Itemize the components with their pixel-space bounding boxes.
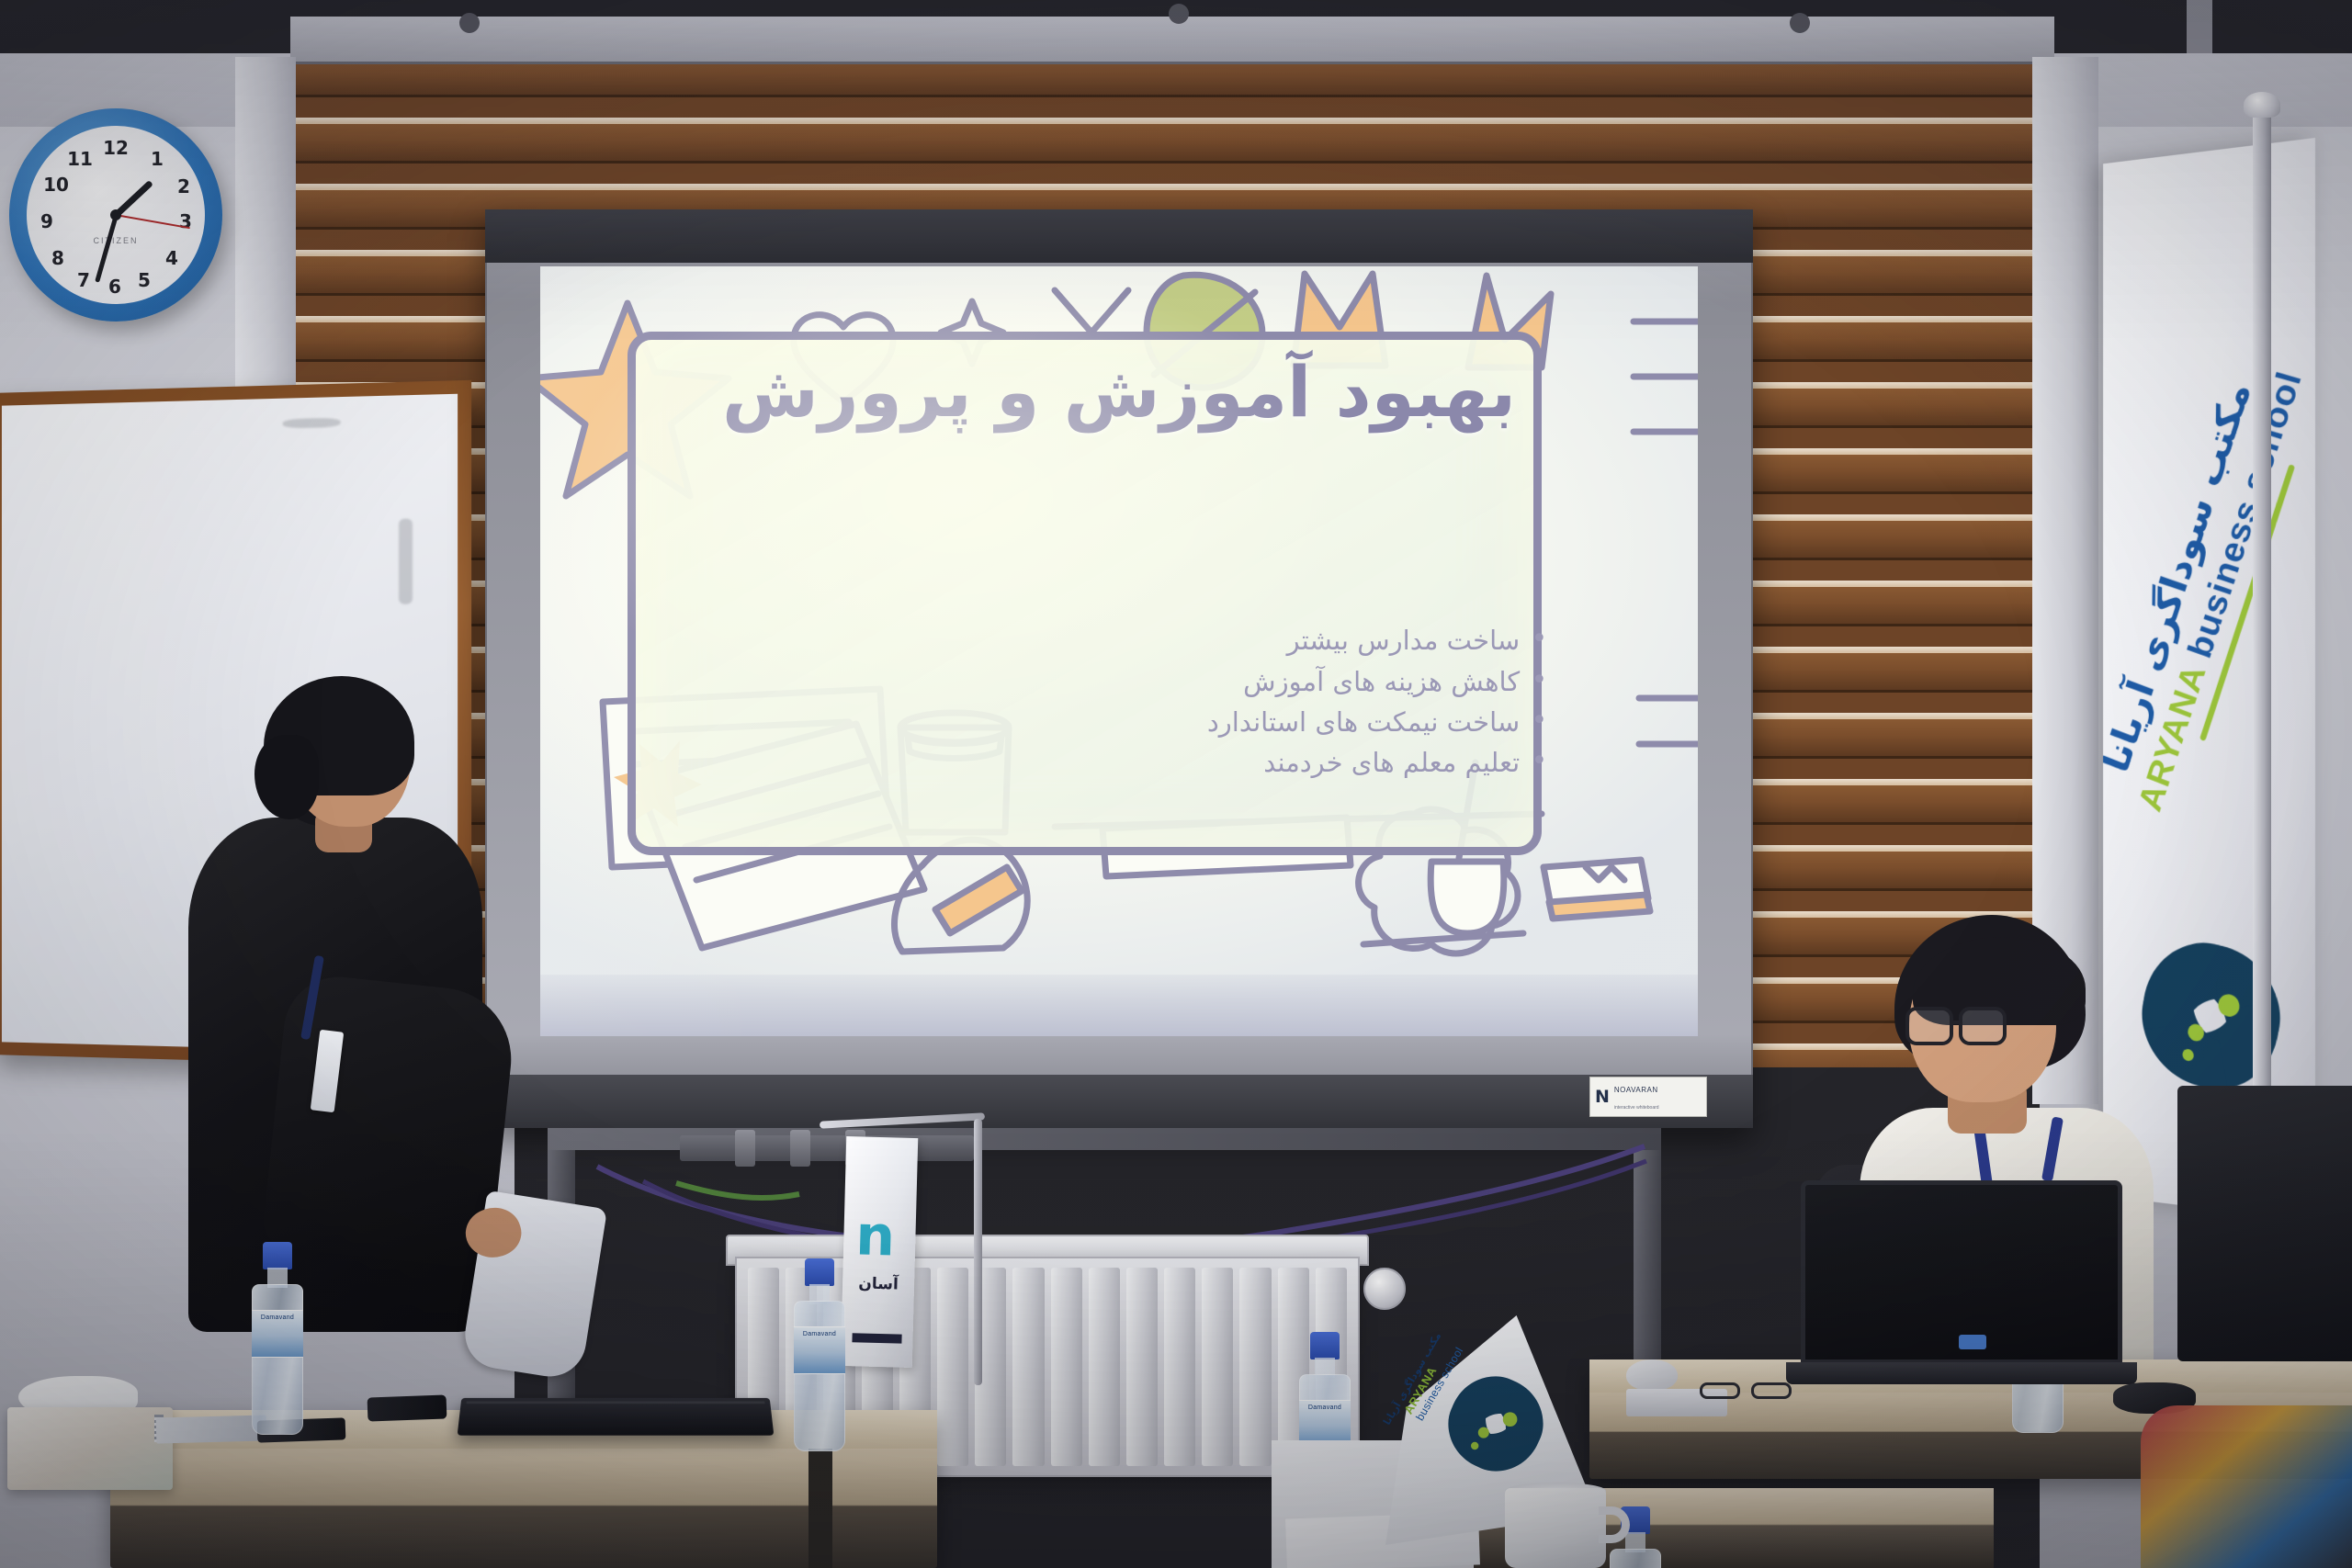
glasses-lens-right bbox=[1959, 1007, 2007, 1045]
clock-num-7: 7 bbox=[77, 269, 90, 291]
whiteboard-smudge bbox=[399, 519, 413, 604]
smartboard-top-bar bbox=[485, 209, 1753, 263]
slide-bullet-item: ساخت مدارس بیشتر bbox=[1207, 620, 1547, 660]
water-bottle[interactable]: Damavand bbox=[792, 1258, 847, 1451]
whiteboard-smudge bbox=[283, 418, 341, 429]
eyeglasses-icon bbox=[1905, 1007, 2018, 1047]
ceiling-fixture-2 bbox=[1169, 4, 1189, 24]
slide-bullet-item: تعلیم معلم های خردمند bbox=[1207, 742, 1547, 783]
clock-num-9: 9 bbox=[40, 210, 53, 232]
clock-face: CITIZEN 12 1 2 3 4 5 6 7 8 9 10 11 bbox=[27, 126, 205, 304]
bottle-cap bbox=[1310, 1332, 1340, 1359]
clock-num-11: 11 bbox=[67, 148, 93, 170]
ceiling-fixture-1 bbox=[459, 13, 480, 33]
clock-num-10: 10 bbox=[43, 174, 69, 196]
radiator-fin bbox=[1051, 1268, 1082, 1466]
coffee-mug[interactable] bbox=[1505, 1488, 1606, 1568]
slide-bullet-item: ساخت نیمکت های استاندارد bbox=[1207, 702, 1547, 742]
bottle-label: Damavand bbox=[794, 1326, 845, 1374]
radiator-valve[interactable] bbox=[1363, 1268, 1406, 1310]
radiator-fin bbox=[1239, 1268, 1271, 1466]
tissue-box bbox=[7, 1407, 173, 1490]
banner-persian-text: مکتب سوداگری آریانا bbox=[2103, 323, 2278, 829]
bottle-body bbox=[1610, 1549, 1661, 1568]
slide-bullet-item: کاهش هزینه های آموزش bbox=[1207, 661, 1547, 702]
bottle-body bbox=[794, 1301, 845, 1451]
eyeglasses-on-desk[interactable] bbox=[1700, 1382, 1801, 1401]
computer-mouse[interactable] bbox=[1626, 1359, 1678, 1391]
clock-num-5: 5 bbox=[138, 269, 151, 291]
classroom-photo: CITIZEN 12 1 2 3 4 5 6 7 8 9 10 11 bbox=[0, 0, 2352, 1568]
banner-pole bbox=[2253, 108, 2271, 1201]
projection-screen[interactable]: بهبود آموزش و پرورش ساخت مدارس بیشتر کاه… bbox=[540, 266, 1698, 1036]
radiator-fin bbox=[1164, 1268, 1195, 1466]
laptop-keyboard-base[interactable] bbox=[1786, 1362, 2137, 1384]
clock-num-12: 12 bbox=[103, 137, 129, 159]
noavaran-logo-icon: N bbox=[1595, 1089, 1610, 1106]
wall-clock: CITIZEN 12 1 2 3 4 5 6 7 8 9 10 11 bbox=[9, 108, 222, 321]
smartboard-brand-label: N NOAVARAN interactive whiteboard bbox=[1589, 1077, 1707, 1117]
clock-num-1: 1 bbox=[151, 148, 164, 170]
front-left-desk-leg bbox=[808, 1449, 832, 1568]
foreground-person bbox=[2141, 1405, 2352, 1568]
radiator-fin bbox=[1012, 1268, 1044, 1466]
water-bottle[interactable]: Damavand bbox=[250, 1242, 305, 1435]
aryana-swirl-logo-icon bbox=[1441, 1369, 1551, 1479]
desk-glasses-lens-left bbox=[1700, 1382, 1740, 1399]
presenter-hair-bun bbox=[254, 735, 319, 819]
radiator-fin bbox=[1089, 1268, 1120, 1466]
bottle-label: Damavand bbox=[252, 1310, 303, 1358]
clock-num-6: 6 bbox=[108, 276, 121, 298]
glasses-lens-left bbox=[1905, 1007, 1953, 1045]
slide-title: بهبود آموزش و پرورش bbox=[586, 351, 1651, 433]
mini-table-flag: n آسان bbox=[841, 1136, 919, 1368]
clock-num-3: 3 bbox=[179, 210, 192, 232]
clock-minute-hand bbox=[95, 214, 119, 282]
bottle-brand: Damavand bbox=[1299, 1404, 1351, 1411]
banner-text-block: مکتب سوداگری آریانا ARYANA business scho… bbox=[2103, 323, 2315, 850]
radiator-fin bbox=[1126, 1268, 1158, 1466]
bottle-body bbox=[252, 1284, 303, 1435]
banner-finial-icon bbox=[2244, 92, 2280, 118]
smartboard-bottom-bar bbox=[485, 1075, 1753, 1128]
open-laptop[interactable] bbox=[1801, 1180, 2122, 1392]
radiator-fin bbox=[937, 1268, 968, 1466]
mini-flag-persian-text: آسان bbox=[850, 1274, 908, 1294]
clock-num-2: 2 bbox=[177, 175, 190, 197]
laptop-screen-badge bbox=[1959, 1335, 1986, 1349]
closed-laptop[interactable] bbox=[458, 1398, 775, 1436]
clock-center-cap bbox=[110, 209, 121, 220]
noavaran-brand-subtitle: interactive whiteboard bbox=[1614, 1105, 1659, 1111]
desk-glasses-lens-right bbox=[1751, 1382, 1792, 1399]
noavaran-brand-name: NOAVARAN bbox=[1614, 1086, 1658, 1094]
external-monitor[interactable] bbox=[2177, 1086, 2352, 1361]
projection-falloff bbox=[540, 975, 1698, 1036]
clock-num-4: 4 bbox=[165, 247, 178, 269]
ceiling-fixture-3 bbox=[1790, 13, 1810, 33]
bottle-brand: Damavand bbox=[252, 1314, 303, 1321]
bottle-brand: Damavand bbox=[794, 1331, 845, 1337]
ceiling-pipe bbox=[2187, 0, 2212, 53]
clock-brand: CITIZEN bbox=[94, 236, 139, 245]
asan-n-logo-icon: n bbox=[855, 1208, 896, 1264]
bottle-cap bbox=[805, 1258, 834, 1286]
presentation-slide: بهبود آموزش و پرورش ساخت مدارس بیشتر کاه… bbox=[540, 266, 1698, 1036]
interactive-smartboard[interactable]: بهبود آموزش و پرورش ساخت مدارس بیشتر کاه… bbox=[485, 209, 1753, 1128]
mini-flag-stand bbox=[974, 1119, 982, 1385]
slide-bullet-list: ساخت مدارس بیشتر کاهش هزینه های آموزش سا… bbox=[1207, 620, 1547, 782]
bottle-cap bbox=[263, 1242, 292, 1269]
mini-flag-bottom-bar bbox=[852, 1333, 901, 1343]
clock-num-8: 8 bbox=[51, 247, 64, 269]
smartphone-secondary[interactable] bbox=[367, 1395, 447, 1422]
radiator-fin bbox=[1202, 1268, 1233, 1466]
